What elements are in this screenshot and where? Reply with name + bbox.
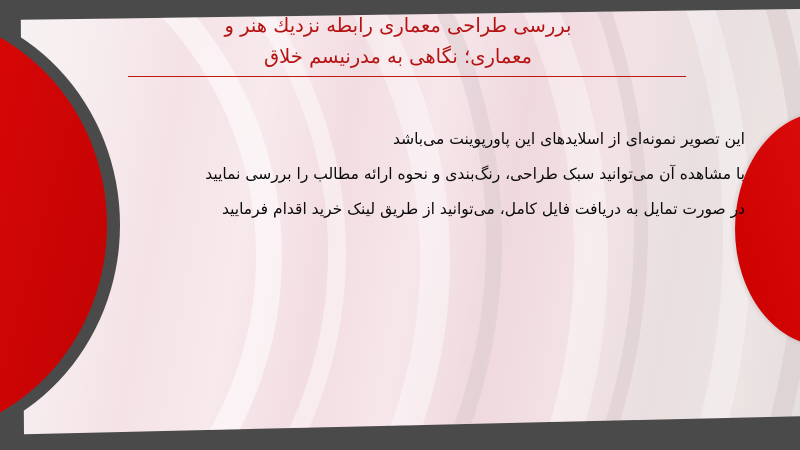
title-line-2: معماری؛ نگاهی به مدرنیسم خلاق [108,41,688,72]
body-line-1: این تصویر نمونه‌ای از اسلایدهای این پاور… [45,122,745,157]
body-line-2: با مشاهده آن می‌توانید سبک طراحی، رنگ‌بن… [45,157,745,192]
slide-body-text: این تصویر نمونه‌ای از اسلایدهای این پاور… [45,122,745,227]
body-line-3: در صورت تمایل به دریافت فایل کامل، می‌تو… [45,192,745,227]
title-line-1: بررسی طراحی معماری رابطه نزدیك هنر و [108,10,688,41]
slide-title: بررسی طراحی معماری رابطه نزدیك هنر و معم… [108,10,688,72]
title-underline [128,76,686,77]
presentation-slide: بررسی طراحی معماری رابطه نزدیك هنر و معم… [0,0,800,450]
